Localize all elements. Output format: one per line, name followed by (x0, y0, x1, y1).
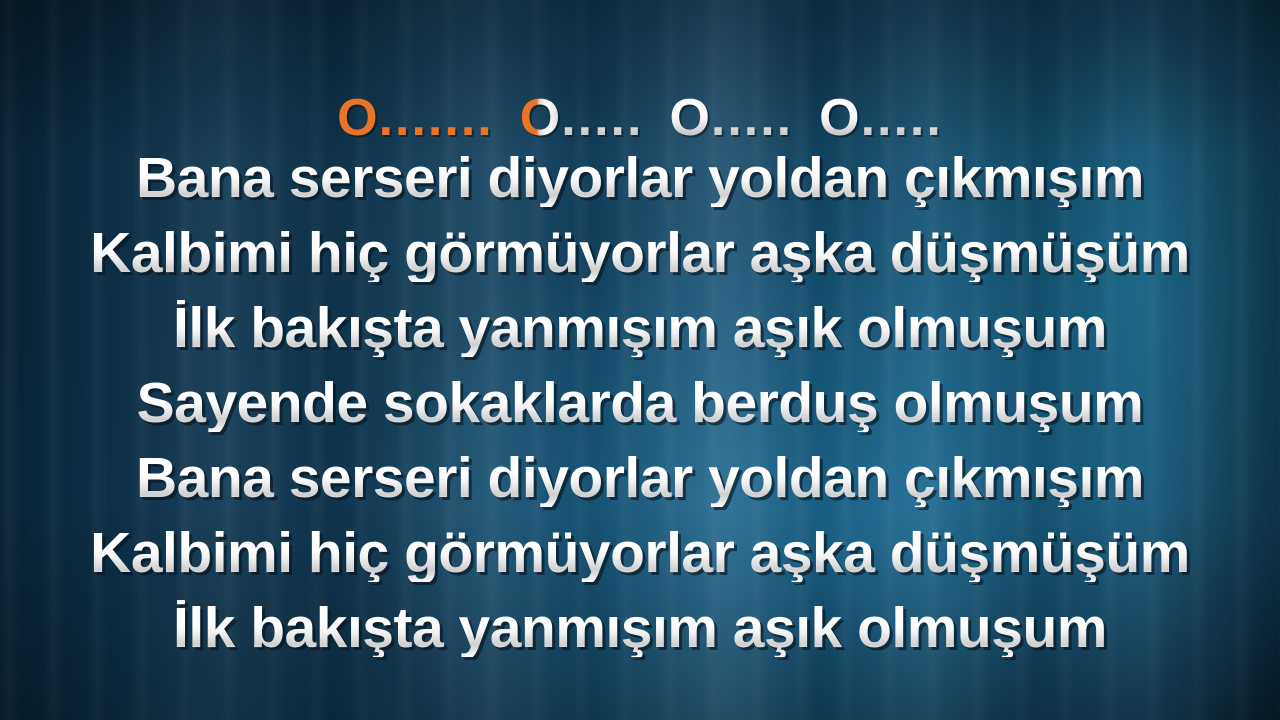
countdown-letter: O (337, 92, 377, 144)
countdown-dots: ....... (379, 92, 494, 144)
lyric-line: Kalbimi hiç görmüyorlar aşka düşmüşüm (0, 525, 1280, 582)
karaoke-screen: O ....... O ..... O ..... O ..... Bana s… (0, 0, 1280, 720)
countdown-group-4: O ..... (819, 92, 943, 144)
lyric-line: Bana serseri diyorlar yoldan çıkmışım (0, 150, 1280, 207)
countdown-group-1: O ....... (337, 92, 494, 144)
countdown-letter: O (819, 92, 859, 144)
countdown-group-3: O ..... (669, 92, 793, 144)
lyric-line: Bana serseri diyorlar yoldan çıkmışım (0, 450, 1280, 507)
lyric-line: İlk bakışta yanmışım aşık olmuşum (0, 300, 1280, 357)
lyric-line: Sayende sokaklarda berduş olmuşum (0, 375, 1280, 432)
countdown-letter: O (669, 92, 709, 144)
countdown-dots: ..... (561, 92, 643, 144)
countdown-dots: ..... (711, 92, 793, 144)
lyric-line: İlk bakışta yanmışım aşık olmuşum (0, 600, 1280, 657)
lyric-stack: O ....... O ..... O ..... O ..... Bana s… (0, 0, 1280, 720)
countdown-markers: O ....... O ..... O ..... O ..... (337, 92, 943, 144)
countdown-letter: O (520, 92, 560, 144)
countdown-dots: ..... (861, 92, 943, 144)
countdown-row: O ....... O ..... O ..... O ..... (0, 92, 1280, 144)
countdown-group-2: O ..... (520, 92, 644, 144)
lyric-line: Kalbimi hiç görmüyorlar aşka düşmüşüm (0, 225, 1280, 282)
